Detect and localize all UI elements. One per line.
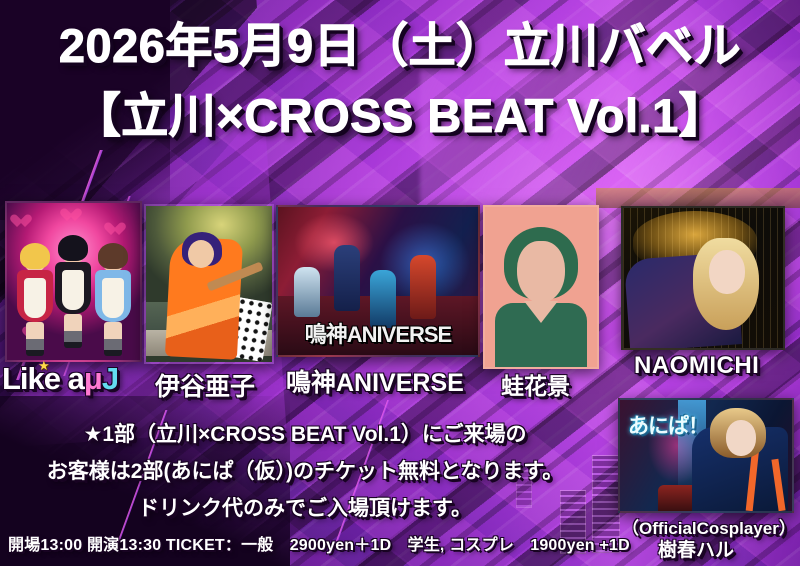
figure-hair xyxy=(98,243,128,269)
anipa-logo: あにぱ！ xyxy=(628,410,708,440)
performer-photo-likea-mj xyxy=(5,201,142,362)
background-gold-strip xyxy=(596,188,800,208)
band-member-figure xyxy=(334,245,360,311)
figure-apron xyxy=(24,278,46,318)
event-flyer: 2026年5月9日（土）立川バベル 【立川×CROSS BEAT Vol.1】 xyxy=(0,0,800,566)
heart-icon xyxy=(17,215,31,227)
performer-photo-narukami-aniverse: 鳴神ANIVERSE xyxy=(276,205,480,357)
figure-apron xyxy=(102,278,124,318)
figure-apron xyxy=(62,270,84,310)
performer-name-itaya-ako: 伊谷亜子 xyxy=(155,367,255,403)
performer-name-narukami-aniverse: 鳴神ANIVERSE xyxy=(286,363,464,399)
aniverse-logo: 鳴神ANIVERSE xyxy=(305,317,451,349)
performer-name-part-mu: μ xyxy=(84,361,102,396)
figure-head xyxy=(102,248,124,272)
performer-name-kiharu-haru: 樹春ハル xyxy=(658,535,734,562)
figure-face xyxy=(517,241,565,303)
figure-legs xyxy=(26,322,44,356)
title-date-venue: 2026年5月9日（土）立川バベル xyxy=(0,18,800,74)
performer-photo-itaya-ako xyxy=(144,204,274,364)
figure-legs xyxy=(104,322,122,356)
figure-head xyxy=(188,240,214,268)
figure-face xyxy=(726,420,756,456)
idol-figure xyxy=(55,240,91,348)
performer-name-kaerukakei: 蛙花景 xyxy=(501,367,570,401)
band-member-figure xyxy=(410,255,436,319)
performer-photo-naomichi xyxy=(621,206,785,350)
performer-photo-kiharu-haru: あにぱ！ xyxy=(618,398,794,513)
performer-name-part-j: J xyxy=(102,361,118,396)
notice-line-2: お客様は2部(あにぱ（仮）)のチケット無料となります。 xyxy=(0,455,610,485)
heart-icon xyxy=(67,209,81,221)
figure-body xyxy=(17,270,53,322)
performer-name-naomichi: NAOMICHI xyxy=(634,352,759,380)
figure-face xyxy=(709,250,745,294)
star-icon: ★ xyxy=(38,358,49,374)
idol-figure xyxy=(95,248,131,356)
heart-icon xyxy=(111,223,125,235)
idol-figure xyxy=(17,248,53,356)
figure-hair xyxy=(20,243,50,269)
figure-hair xyxy=(58,235,88,261)
performer-photo-kaerukakei xyxy=(483,205,599,369)
notice-line-3: ドリンク代のみでご入場頂けます。 xyxy=(0,492,610,522)
performer-name-likea-mj: ★Like aμJ xyxy=(2,361,118,397)
notice-line-1: ★1部（立川×CROSS BEAT Vol.1）にご来場の xyxy=(0,418,610,448)
ticket-info-bar: 開場13:00 開演13:30 TICKET：一般 2900yen＋1D 学生,… xyxy=(8,531,630,555)
figure-body xyxy=(95,270,131,322)
figure-legs xyxy=(64,314,82,348)
figure-head xyxy=(62,240,84,264)
band-member-figure xyxy=(294,267,320,317)
flyer-title: 2026年5月9日（土）立川バベル 【立川×CROSS BEAT Vol.1】 xyxy=(0,18,800,144)
title-event-name: 【立川×CROSS BEAT Vol.1】 xyxy=(0,88,800,144)
figure-head xyxy=(24,248,46,272)
figure-body xyxy=(55,262,91,314)
